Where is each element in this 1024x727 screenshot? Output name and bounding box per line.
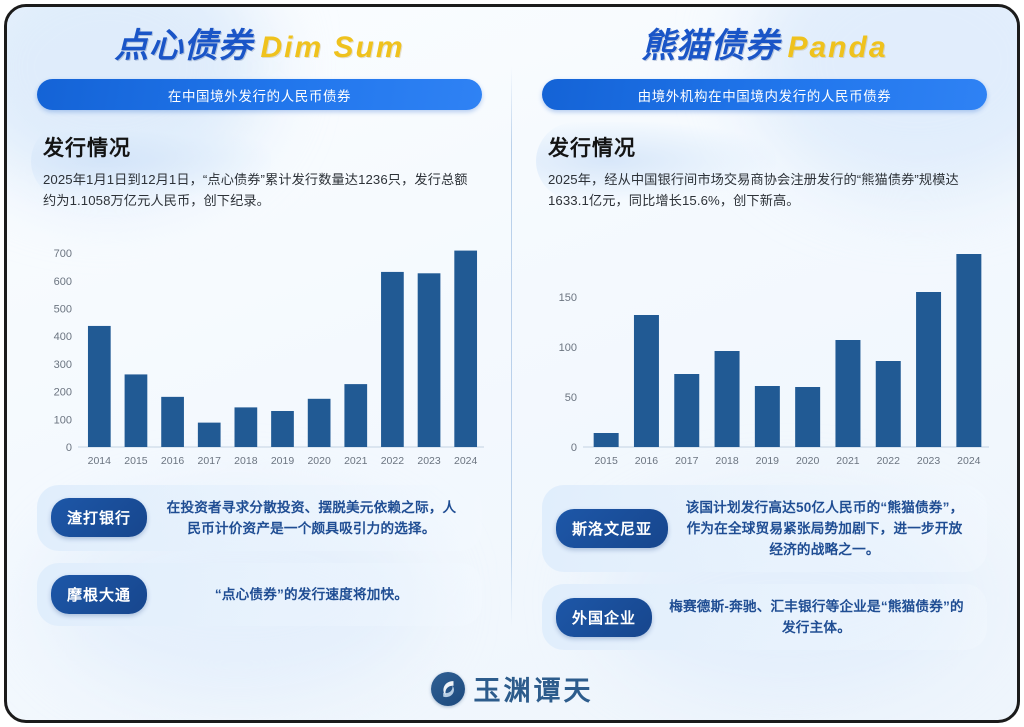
quote-source-tag: 斯洛文尼亚 [556, 509, 668, 548]
section-title: 发行情况 [43, 132, 476, 162]
svg-text:2018: 2018 [234, 455, 258, 467]
svg-text:150: 150 [559, 292, 577, 304]
headline-chinese: 点心债券 [114, 27, 252, 65]
svg-text:2014: 2014 [88, 455, 112, 467]
bar-chart-svg: 0501001502015201620172018201920202021202… [542, 232, 997, 477]
headline-english: Dim Sum [260, 31, 404, 64]
panel-headline-dim-sum: 点心债券Dim Sum [37, 29, 482, 63]
svg-text:2019: 2019 [271, 455, 295, 467]
svg-text:2015: 2015 [124, 455, 148, 467]
svg-text:2020: 2020 [796, 455, 820, 467]
brand-name: 玉渊谭天 [474, 669, 594, 708]
svg-text:2016: 2016 [161, 455, 185, 467]
svg-text:2016: 2016 [635, 455, 659, 467]
bar-chart-dim-sum: 0100200300400500600700201420152016201720… [37, 232, 492, 477]
svg-text:2021: 2021 [344, 455, 368, 467]
footer-branding: 玉渊谭天 [7, 669, 1017, 708]
definition-banner-label: 在中国境外发行的人民币债券 [168, 85, 351, 105]
svg-text:2024: 2024 [957, 455, 981, 467]
svg-text:600: 600 [54, 276, 72, 288]
quote-list-dim-sum: 渣打银行 在投资者寻求分散投资、摆脱美元依赖之际，人民币计价资产是一个颇具吸引力… [37, 485, 482, 626]
quote-source-tag: 渣打银行 [51, 498, 147, 537]
svg-text:50: 50 [565, 392, 577, 404]
bar-chart-svg: 0100200300400500600700201420152016201720… [37, 232, 492, 477]
svg-text:500: 500 [54, 303, 72, 315]
svg-text:400: 400 [54, 331, 72, 343]
quote-source-tag: 外国企业 [556, 598, 652, 637]
svg-text:0: 0 [66, 442, 72, 454]
svg-text:2024: 2024 [454, 455, 478, 467]
svg-text:100: 100 [559, 342, 577, 354]
headline-english: Panda [787, 31, 887, 64]
wave-circle-logo-icon [431, 672, 465, 706]
quote-text: “点心债券”的发行速度将加快。 [147, 584, 468, 605]
svg-text:2020: 2020 [307, 455, 331, 467]
svg-text:300: 300 [54, 359, 72, 371]
definition-banner-label: 由境外机构在中国境内发行的人民币债券 [638, 85, 892, 105]
bar-chart-panda: 0501001502015201620172018201920202021202… [542, 232, 997, 477]
quote-text: 该国计划发行高达50亿人民币的“熊猫债券”，作为在全球贸易紧张局势加剧下，进一步… [668, 497, 973, 560]
quote-text: 梅赛德斯-奔驰、汇丰银行等企业是“熊猫债券”的发行主体。 [652, 596, 973, 638]
definition-banner-panda: 由境外机构在中国境内发行的人民币债券 [542, 79, 987, 110]
definition-banner-dim-sum: 在中国境外发行的人民币债券 [37, 79, 482, 110]
svg-text:200: 200 [54, 386, 72, 398]
svg-text:100: 100 [54, 414, 72, 426]
quote-card: 摩根大通 “点心债券”的发行速度将加快。 [37, 563, 482, 626]
quote-card: 外国企业 梅赛德斯-奔驰、汇丰银行等企业是“熊猫债券”的发行主体。 [542, 584, 987, 650]
svg-text:2017: 2017 [198, 455, 222, 467]
quote-source-tag: 摩根大通 [51, 575, 147, 614]
quote-list-panda: 斯洛文尼亚 该国计划发行高达50亿人民币的“熊猫债券”，作为在全球贸易紧张局势加… [542, 485, 987, 650]
svg-text:2021: 2021 [836, 455, 860, 467]
panel-headline-panda: 熊猫债券Panda [542, 29, 987, 63]
svg-text:2022: 2022 [877, 455, 901, 467]
svg-text:2022: 2022 [381, 455, 405, 467]
svg-text:2015: 2015 [594, 455, 618, 467]
section-title: 发行情况 [548, 132, 981, 162]
svg-text:0: 0 [571, 442, 577, 454]
section-body: 2025年1月1日到12月1日，“点心债券”累计发行数量达1236只，发行总额约… [43, 169, 476, 212]
panel-columns: 点心债券Dim Sum 在中国境外发行的人民币债券 发行情况 2025年1月1日… [7, 7, 1017, 672]
headline-chinese: 熊猫债券 [641, 27, 779, 65]
quote-card: 渣打银行 在投资者寻求分散投资、摆脱美元依赖之际，人民币计价资产是一个颇具吸引力… [37, 485, 482, 551]
issuance-section-dim-sum: 发行情况 2025年1月1日到12月1日，“点心债券”累计发行数量达1236只，… [37, 124, 482, 222]
section-body: 2025年，经从中国银行间市场交易商协会注册发行的“熊猫债券”规模达1633.1… [548, 169, 981, 212]
panel-panda: 熊猫债券Panda 由境外机构在中国境内发行的人民币债券 发行情况 2025年，… [512, 7, 1017, 672]
svg-text:2018: 2018 [715, 455, 739, 467]
svg-text:2019: 2019 [756, 455, 780, 467]
infographic-frame: 点心债券Dim Sum 在中国境外发行的人民币债券 发行情况 2025年1月1日… [4, 4, 1020, 723]
svg-text:2017: 2017 [675, 455, 699, 467]
svg-text:700: 700 [54, 248, 72, 260]
quote-text: 在投资者寻求分散投资、摆脱美元依赖之际，人民币计价资产是一个颇具吸引力的选择。 [147, 497, 468, 539]
svg-text:2023: 2023 [417, 455, 441, 467]
issuance-section-panda: 发行情况 2025年，经从中国银行间市场交易商协会注册发行的“熊猫债券”规模达1… [542, 124, 987, 222]
svg-text:2023: 2023 [917, 455, 941, 467]
quote-card: 斯洛文尼亚 该国计划发行高达50亿人民币的“熊猫债券”，作为在全球贸易紧张局势加… [542, 485, 987, 572]
panel-dim-sum: 点心债券Dim Sum 在中国境外发行的人民币债券 发行情况 2025年1月1日… [7, 7, 512, 672]
